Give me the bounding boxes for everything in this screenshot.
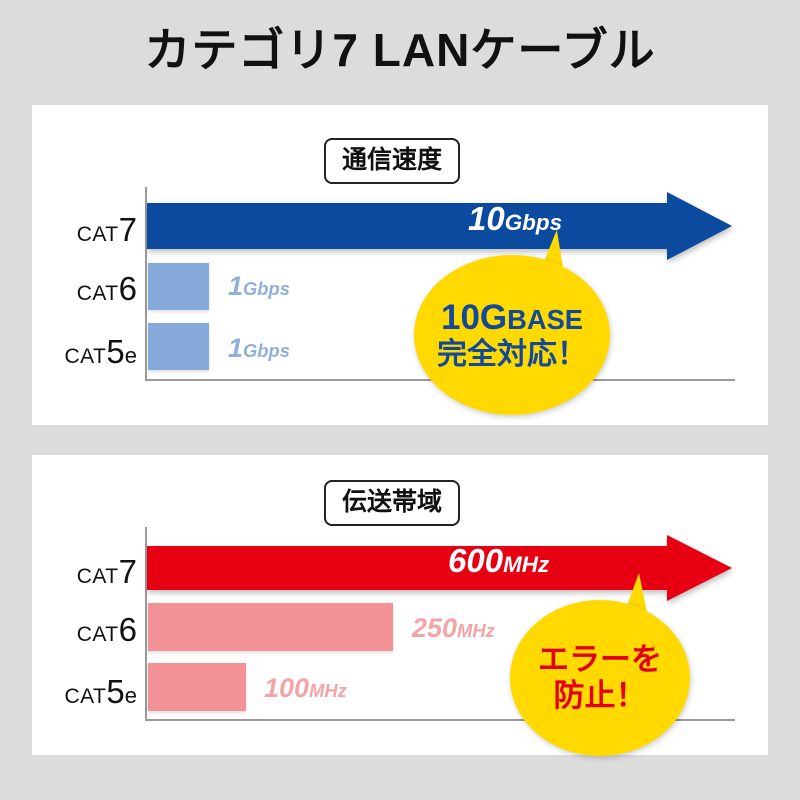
category-word: CAT bbox=[77, 223, 119, 246]
category-word: CAT bbox=[77, 282, 119, 305]
category-label-cat5e: CAT5e bbox=[42, 675, 137, 708]
value-label-cat6-band: 250MHz bbox=[412, 615, 495, 642]
callout-bubble-error-prevention: エラーを 防止！ bbox=[510, 600, 690, 756]
value-label-cat5e-speed: 1Gbps bbox=[228, 335, 290, 362]
category-word: CAT bbox=[64, 345, 106, 368]
value-label-cat7-band: 600MHz bbox=[448, 544, 549, 577]
arrow-body bbox=[147, 203, 667, 249]
arrow-head bbox=[667, 192, 732, 260]
callout-line-1: 10GBASE bbox=[441, 300, 583, 336]
bar-cat5e-speed bbox=[148, 323, 209, 370]
value-unit: Gbps bbox=[243, 278, 290, 299]
category-label-cat6: CAT6 bbox=[42, 272, 137, 305]
category-label-cat6: CAT6 bbox=[42, 613, 137, 646]
category-number: 7 bbox=[119, 553, 137, 590]
section-chip-band: 伝送帯域 bbox=[324, 480, 460, 526]
value-number: 600 bbox=[448, 542, 503, 579]
bar-cat6-band bbox=[148, 603, 393, 651]
callout-line-2: 完全対応！ bbox=[437, 339, 587, 370]
value-unit: Gbps bbox=[243, 340, 290, 361]
category-number: 7 bbox=[119, 211, 137, 248]
category-suffix: e bbox=[125, 683, 137, 708]
value-number: 250 bbox=[412, 613, 457, 643]
category-word: CAT bbox=[64, 685, 106, 708]
value-unit: MHz bbox=[457, 620, 495, 641]
callout-line-2: 防止！ bbox=[554, 680, 647, 712]
value-label-cat6-speed: 1Gbps bbox=[228, 273, 290, 300]
value-number: 10 bbox=[468, 200, 505, 237]
page-title: カテゴリ7 LANケーブル bbox=[0, 22, 800, 78]
category-label-cat5e: CAT5e bbox=[42, 335, 137, 368]
callout-line-1-main: エラーを bbox=[538, 642, 662, 677]
callout-line-1-main: 10G bbox=[441, 298, 507, 337]
value-label-cat5e-band: 100MHz bbox=[264, 675, 347, 702]
value-unit: MHz bbox=[503, 552, 549, 577]
value-number: 1 bbox=[228, 333, 243, 363]
value-number: 100 bbox=[264, 673, 309, 703]
bar-cat6-speed bbox=[148, 263, 209, 310]
panel-communication-speed: 通信速度 CAT7 10Gbps CAT6 1Gbps CAT5e 1Gbps bbox=[32, 105, 768, 425]
category-word: CAT bbox=[77, 565, 119, 588]
callout-line-1: エラーを bbox=[538, 644, 662, 676]
category-number: 5 bbox=[106, 333, 124, 370]
bar-cat5e-band bbox=[148, 663, 246, 711]
arrow-head bbox=[667, 535, 732, 601]
category-number: 6 bbox=[119, 270, 137, 307]
value-number: 1 bbox=[228, 271, 243, 301]
category-label-cat7: CAT7 bbox=[42, 555, 137, 588]
category-suffix: e bbox=[125, 343, 137, 368]
callout-bubble-10gbase: 10GBASE 完全対応！ bbox=[414, 255, 610, 415]
infographic-stage: カテゴリ7 LANケーブル 通信速度 CAT7 10Gbps CAT6 1Gbp… bbox=[0, 0, 800, 800]
panel-transmission-bandwidth: 伝送帯域 CAT7 600MHz CAT6 250MHz CAT5e 100MH bbox=[32, 455, 768, 755]
value-unit: MHz bbox=[309, 680, 347, 701]
arrow-body bbox=[147, 546, 667, 590]
category-label-cat7: CAT7 bbox=[42, 213, 137, 246]
category-word: CAT bbox=[77, 623, 119, 646]
category-number: 5 bbox=[106, 673, 124, 710]
callout-line-1-small: BASE bbox=[507, 304, 583, 335]
section-chip-speed: 通信速度 bbox=[324, 138, 460, 184]
bar-cat7-speed-arrow bbox=[147, 192, 732, 260]
category-number: 6 bbox=[119, 611, 137, 648]
